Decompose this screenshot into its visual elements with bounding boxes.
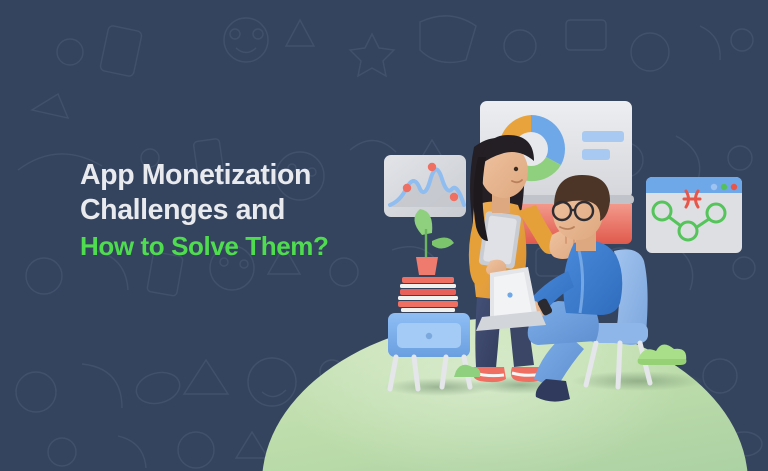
title-line-2: Challenges and	[80, 193, 410, 228]
hero-illustration	[370, 95, 768, 415]
title-line-1: App Monetization	[80, 158, 410, 193]
chart-marker-3	[450, 193, 458, 201]
legend-bar-1	[582, 131, 624, 142]
window-dot-2	[721, 184, 727, 190]
window-dot-1	[711, 184, 717, 190]
window-dot-3	[731, 184, 737, 190]
floor-bush	[638, 344, 687, 365]
poster-canvas: App Monetization Challenges and How to S…	[0, 0, 768, 471]
chart-marker-2	[428, 163, 436, 171]
title-line-3: How to Solve Them?	[80, 231, 410, 263]
chart-marker-1	[403, 184, 411, 192]
line-chart-card	[384, 155, 466, 217]
potted-plant	[414, 209, 454, 275]
book-stack	[398, 277, 458, 312]
legend-bar-2	[582, 149, 610, 160]
flowchart-browser-window	[646, 177, 742, 253]
blue-nightstand	[388, 209, 470, 389]
page-title: App Monetization Challenges and How to S…	[80, 158, 410, 262]
